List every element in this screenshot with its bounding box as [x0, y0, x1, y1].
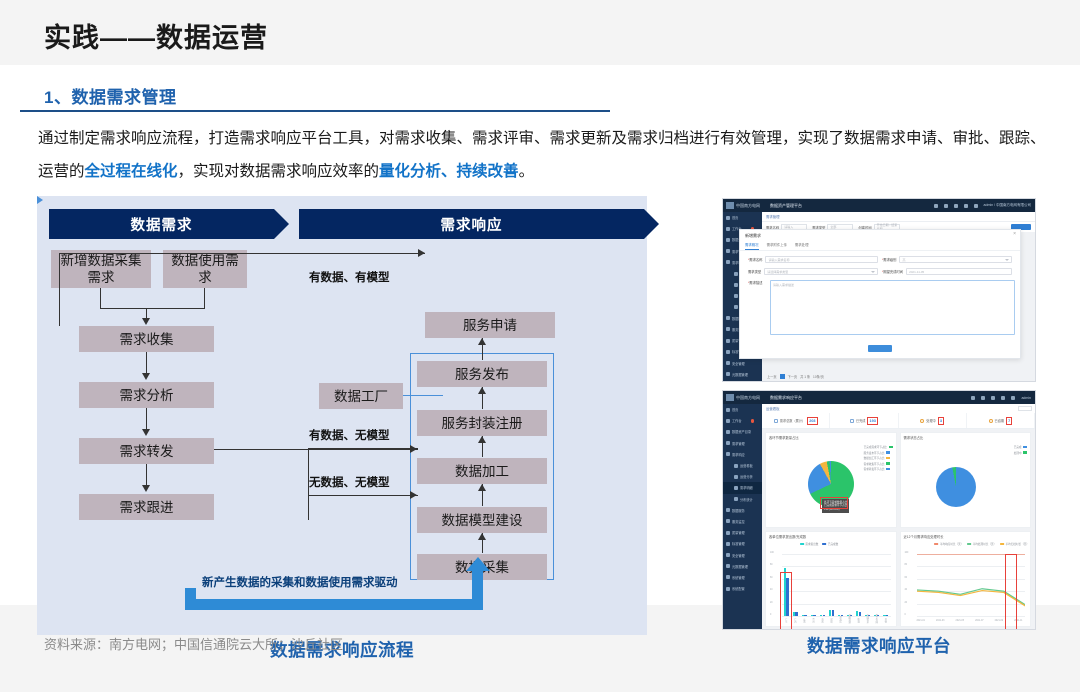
sidebar-item-label: 工作台	[732, 418, 742, 423]
sidebar-item-label: 首页	[732, 215, 738, 220]
gridline	[782, 566, 891, 567]
connector	[308, 449, 418, 450]
sidebar-item-label: 系统配置	[732, 586, 745, 591]
connector	[308, 495, 418, 496]
stat-card-1: 已完成193	[830, 413, 898, 428]
brand-name: 中国南方电网	[736, 395, 760, 401]
card-title: 各环节需求数量占比	[766, 433, 896, 440]
search-icon[interactable]	[1001, 396, 1005, 400]
paragraph-highlight-1: 全过程在线化	[85, 163, 178, 180]
legend-item: 需求提出数	[800, 542, 818, 546]
menu-icon	[734, 497, 738, 501]
x-tick-label: 数字电网	[874, 614, 878, 623]
app-header: 中国南方电网 数据资产管理平台 admin / 中国南方电网有限公司	[723, 199, 1035, 212]
sidebar-item-7[interactable]: 需求明细	[723, 482, 762, 493]
node-data-modeling: 数据模型建设	[417, 507, 547, 533]
card-title: 近12个月需求响应处理时长	[901, 532, 1031, 539]
legend-swatch	[889, 446, 893, 449]
legend-label: 需求提出数	[805, 542, 818, 546]
gridline	[782, 591, 891, 592]
x-tick-label: 2021-09	[995, 620, 1003, 622]
menu-icon	[726, 316, 730, 320]
legend: 已完成处理中	[1014, 445, 1027, 455]
modal-tab-1[interactable]: 需求附件上传	[767, 242, 787, 250]
stat-value: 193	[867, 417, 877, 425]
header-icons: admin	[971, 396, 1031, 400]
menu-icon	[734, 305, 738, 309]
section-divider	[20, 110, 610, 112]
field-0[interactable]: *需求名称请输入需求名称	[748, 256, 878, 263]
x-tick-label: 2021-01	[917, 620, 925, 622]
menu-icon	[726, 542, 730, 546]
sidebar-item-label: 首页	[732, 407, 738, 412]
message-icon[interactable]	[981, 396, 985, 400]
sidebar-item-14[interactable]: 元数据管理	[723, 369, 762, 380]
legend-swatch	[886, 462, 890, 465]
modal-title: 新增需求	[740, 230, 1020, 239]
legend-label: 平均响应时长（天）	[940, 542, 963, 546]
total-count: 共 1 条	[800, 374, 810, 379]
x-tick-label: 贵州	[810, 618, 814, 623]
user-label[interactable]: admin / 中国南方电网有限公司	[984, 203, 1031, 208]
menu-icon	[726, 441, 730, 445]
legend-swatch	[822, 543, 826, 546]
node-service-publish: 服务发布	[417, 361, 547, 387]
stat-icon	[920, 419, 924, 423]
menu-icon	[726, 564, 730, 568]
x-tick-label: 能源	[856, 618, 860, 623]
node-data-factory: 数据工厂	[319, 383, 403, 409]
next-page[interactable]: 下一页	[788, 374, 798, 379]
modal-tab-2[interactable]: 需求处理	[795, 242, 809, 250]
arrow-head	[478, 533, 486, 540]
legend-swatch	[1023, 451, 1027, 454]
y-tick-label: 100	[770, 552, 774, 554]
legend-label: 已完成	[1014, 445, 1022, 449]
sidebar-item-label: 元数据管理	[732, 372, 748, 377]
stat-value: 3	[938, 417, 944, 425]
field-input[interactable]: 2021-11-05	[906, 268, 1012, 275]
sidebar-item-label: 需求响应	[732, 452, 745, 457]
chart-card-1: 需求状态占比已完成处理中	[900, 432, 1032, 528]
field-label: 需求类型	[748, 269, 761, 274]
brand-name: 中国南方电网	[736, 203, 760, 209]
sidebar-item-16[interactable]: 系统配置	[723, 583, 762, 594]
banner-data-demand: 数据需求	[49, 209, 274, 239]
arrow-head	[466, 557, 490, 571]
menu-icon	[734, 475, 738, 479]
x-tick-label: 广西	[792, 618, 796, 623]
user-label[interactable]: admin	[1021, 396, 1031, 400]
y-tick-label: 80	[905, 564, 908, 566]
sidebar-item-label: 系统管理	[732, 575, 745, 580]
bar	[813, 615, 815, 616]
condition-label-1: 有数据、有模型	[309, 269, 390, 285]
chart-card-3: 近12个月需求响应处理时长平均响应时长（天）平均处理时长（天）平均归档时长（天）…	[900, 531, 1032, 627]
sidebar-item-11[interactable]: 质量管理	[723, 527, 762, 538]
arrow-head	[142, 429, 150, 436]
logo-icon	[726, 394, 734, 401]
search-icon[interactable]	[964, 204, 968, 208]
badge-dot	[751, 419, 755, 423]
y-tick-label: 40	[905, 589, 908, 591]
legend-label: 数据加工环节占比	[864, 456, 885, 460]
form-row-1: *需求名称请输入需求名称*需求级别高	[740, 251, 1020, 263]
sidebar-item-0[interactable]: 首页	[723, 404, 762, 415]
x-tick-label: 超高压	[838, 616, 842, 623]
menu-icon	[726, 227, 730, 231]
legend-item: 已完成数	[822, 542, 838, 546]
gear-icon[interactable]	[991, 396, 995, 400]
field-2[interactable]: 需求类型请选择需求类型	[748, 268, 878, 275]
sidebar-item-12[interactable]: 标准管理	[723, 538, 762, 549]
bar	[823, 615, 825, 616]
platform-screenshot-demand-form[interactable]: 中国南方电网 数据资产管理平台 admin / 中国南方电网有限公司 首页工作台…	[722, 198, 1036, 382]
stat-value: 7	[1006, 417, 1012, 425]
legend-item: 需求转发环节占比	[864, 467, 893, 471]
field-input[interactable]: 高	[899, 256, 1012, 263]
node-demand-forward: 需求转发	[79, 438, 214, 464]
demand-description-textarea[interactable]: 请输入需求描述	[770, 280, 1015, 335]
y-tick-label: 0	[905, 614, 906, 616]
sidebar-item-15[interactable]: 系统管理	[723, 572, 762, 583]
menu-icon	[734, 283, 738, 287]
connector	[59, 325, 60, 326]
menu-icon	[726, 575, 730, 579]
x-tick-label: 2021-05	[956, 620, 964, 622]
sidebar-item-10[interactable]: 服务监控	[723, 516, 762, 527]
node-demand-collection: 需求收集	[79, 326, 214, 352]
slide-root: 实践——数据运营 1、数据需求管理 通过制定需求响应流程，打造需求响应平台工具，…	[0, 0, 1080, 692]
chevron-down-icon	[1005, 259, 1009, 261]
x-tick-label: 海南	[820, 618, 824, 623]
paragraph-text-3: 。	[519, 163, 535, 180]
export-button[interactable]	[1018, 406, 1032, 412]
sidebar-item-label: 数据服务	[732, 508, 745, 513]
stat-card-3: 已逾期7	[967, 413, 1035, 428]
menu-icon	[726, 531, 730, 535]
sidebar-item-6[interactable]: 运营分析	[723, 471, 762, 482]
menu-icon	[726, 216, 730, 220]
pie-chart	[936, 467, 976, 507]
chart-card-0: 各环节需求数量占比已完成需求环节占比服务发布环节占比数据加工环节占比需求收集环节…	[765, 432, 897, 528]
connector	[204, 288, 205, 308]
node-demand-analysis: 需求分析	[79, 382, 214, 408]
highlight-marker	[1005, 554, 1017, 630]
stat-card-0: 需求总数（累计）203	[762, 413, 830, 428]
menu-icon	[726, 249, 730, 253]
y-tick-label: 80	[770, 564, 773, 566]
breadcrumb-label: 运营看板	[766, 406, 780, 411]
stat-label: 已逾期	[995, 418, 1005, 423]
sidebar-item-label: 标准管理	[732, 541, 745, 546]
connector	[59, 253, 425, 254]
legend-swatch	[886, 457, 890, 460]
x-tick-label: 2021-03	[936, 620, 944, 622]
field-input[interactable]: 请选择需求类型	[764, 268, 878, 275]
sidebar-item-9[interactable]: 数据服务	[723, 505, 762, 516]
sidebar-item-4[interactable]: 需求响应	[723, 449, 762, 460]
doc-icon[interactable]	[974, 204, 978, 208]
sidebar-item-1[interactable]: 工作台	[723, 415, 762, 426]
highlight-marker	[820, 497, 848, 509]
demand-description-label: *需求描述	[748, 280, 762, 285]
flow-diagram: 数据需求 需求响应 新增数据采集需求 数据使用需求 需求收集 需求分析 需求转发…	[37, 196, 647, 635]
connector	[100, 308, 205, 309]
gridline	[782, 554, 891, 555]
x-tick-label: 电网技术	[865, 614, 869, 623]
breadcrumb: 需求管理	[762, 212, 1035, 221]
platform-caption: 数据需求响应平台	[722, 633, 1036, 658]
arrow-head	[418, 249, 425, 257]
card-title: 各单位需求提出数/完成数	[766, 532, 896, 539]
condition-label-2: 有数据、无模型	[309, 427, 390, 443]
field-input[interactable]: 请输入需求名称	[765, 256, 878, 263]
menu-icon	[726, 508, 730, 512]
x-tick-label: 云南	[801, 618, 805, 623]
sidebar-item-label: 服务监控	[732, 519, 745, 524]
feedback-label: 新产生数据的采集和数据使用需求驱动	[202, 574, 398, 590]
arrow-head	[478, 436, 486, 443]
node-data-processing: 数据加工	[417, 458, 547, 484]
arrow-head	[142, 318, 150, 325]
y-tick-label: 0	[770, 614, 771, 616]
sidebar: 首页工作台数据资产目录需求管理需求响应运营看板运营分析需求明细分布统计数据服务服…	[723, 404, 762, 629]
connector	[214, 449, 309, 450]
header-icons: admin / 中国南方电网有限公司	[934, 203, 1031, 208]
legend-label: 平均归档时长（天）	[1006, 542, 1029, 546]
doc-icon[interactable]	[1011, 396, 1015, 400]
body-paragraph: 通过制定需求响应流程，打造需求响应平台工具，对需求收集、需求评审、需求更新及需求…	[38, 122, 1046, 188]
legend-item: 数据加工环节占比	[864, 456, 893, 460]
menu-icon	[726, 553, 730, 557]
stat-icon	[774, 419, 778, 423]
pagination[interactable]: 上一页 下一页 共 1 条 10条/页	[767, 374, 824, 379]
sidebar-item-label: 安全管理	[732, 553, 745, 558]
modal-tab-0[interactable]: 需求概况	[745, 242, 759, 250]
stat-icon	[989, 419, 993, 423]
sidebar-item-14[interactable]: 元数据管理	[723, 561, 762, 572]
bell-icon[interactable]	[934, 204, 938, 208]
paragraph-text-2: ，实现对数据需求响应效率的	[178, 163, 380, 180]
section-heading: 1、数据需求管理	[44, 83, 176, 108]
plot-area: 1008060402002021-012021-032021-052021-07…	[917, 554, 1026, 616]
sidebar-item-label: 运营分析	[740, 474, 753, 479]
highlight-marker	[780, 572, 792, 630]
app-title: 数据需求响应平台	[770, 395, 802, 401]
arrow-head	[142, 373, 150, 380]
main-content: 运营看板 需求总数（累计）203已完成193处理中3已逾期7 各环节需求数量占比…	[762, 404, 1035, 629]
sidebar-item-5[interactable]: 运营看板	[723, 460, 762, 471]
legend-item: 已完成需求环节占比	[864, 445, 893, 449]
chart-cards: 各环节需求数量占比已完成需求环节占比服务发布环节占比数据加工环节占比需求收集环节…	[762, 429, 1035, 630]
connector	[403, 395, 443, 396]
breadcrumb-label: 需求管理	[766, 214, 780, 219]
sidebar-item-13[interactable]: 安全管理	[723, 549, 762, 560]
platform-screenshot-dashboard[interactable]: 中国南方电网 数据需求响应平台 admin 首页工作台数据资产目录需求管理需求响…	[722, 390, 1036, 630]
legend-label: 平均处理时长（天）	[973, 542, 996, 546]
menu-icon	[726, 452, 730, 456]
arrow-head	[410, 491, 417, 499]
page-size-select[interactable]: 10条/页	[813, 374, 824, 379]
arrow-head	[478, 387, 486, 394]
sidebar-item-label: 运营看板	[740, 463, 753, 468]
app-title: 数据资产管理平台	[770, 203, 802, 209]
legend-label: 已完成需求环节占比	[864, 445, 887, 449]
gridline	[782, 579, 891, 580]
menu-icon	[734, 464, 738, 468]
menu-icon	[726, 327, 730, 331]
chevron-down-icon	[871, 271, 875, 273]
sidebar-item-label: 安全管理	[732, 361, 745, 366]
x-tick-label: 2021-07	[975, 620, 983, 622]
stat-icon	[850, 419, 854, 423]
content-sheet: 1、数据需求管理 通过制定需求响应流程，打造需求响应平台工具，对需求收集、需求评…	[0, 65, 1080, 605]
legend-item: 处理中	[1014, 451, 1027, 455]
y-tick-label: 20	[905, 602, 908, 604]
bar	[795, 612, 797, 616]
node-service-apply: 服务申请	[425, 312, 555, 338]
stat-cards: 需求总数（累计）203已完成193处理中3已逾期7	[762, 413, 1035, 429]
x-tick-label: 其他	[883, 618, 887, 623]
menu-icon	[726, 519, 730, 523]
stat-value: 203	[807, 417, 817, 425]
bar	[804, 615, 806, 616]
menu-icon	[726, 372, 730, 376]
bell-icon[interactable]	[971, 396, 975, 400]
sidebar-item-15[interactable]: 系统管理	[723, 380, 762, 382]
arrow-head	[142, 485, 150, 492]
arrow-head	[478, 484, 486, 491]
x-tick-label: 调峰调频	[847, 614, 851, 623]
sidebar-item-label: 需求明细	[740, 485, 753, 490]
menu-icon	[726, 408, 730, 412]
stat-label: 需求总数（累计）	[780, 418, 806, 423]
legend-swatch	[1023, 446, 1027, 449]
message-icon[interactable]	[944, 204, 948, 208]
sidebar-item-8[interactable]: 分布统计	[723, 494, 762, 505]
legend-swatch	[934, 543, 938, 546]
sidebar-item-2[interactable]: 数据资产目录	[723, 426, 762, 437]
legend: 平均响应时长（天）平均处理时长（天）平均归档时长（天）	[934, 542, 996, 546]
legend-item: 平均处理时长（天）	[967, 542, 996, 546]
legend-label: 服务发布环节占比	[864, 451, 885, 455]
chart-card-2: 各单位需求提出数/完成数需求提出数已完成数100806040200广东广西云南贵…	[765, 531, 897, 627]
legend-item: 平均响应时长（天）	[934, 542, 963, 546]
menu-icon	[734, 272, 738, 276]
field-label: *需求名称	[748, 257, 762, 262]
node-new-collection-demand: 新增数据采集需求	[51, 250, 151, 288]
gridline	[782, 604, 891, 605]
connector	[146, 464, 147, 485]
bar	[859, 612, 861, 616]
menu-icon	[726, 361, 730, 365]
sidebar-item-label: 元数据管理	[732, 564, 748, 569]
logo-icon	[726, 202, 734, 209]
arrow-head	[478, 338, 486, 345]
field-label: *需求级别	[882, 257, 896, 262]
modal-tabs: 需求概况需求附件上传需求处理	[740, 239, 1020, 251]
y-tick-label: 60	[905, 577, 908, 579]
submit-button[interactable]	[868, 345, 892, 352]
prev-page[interactable]: 上一页	[767, 374, 777, 379]
field-1[interactable]: *需求级别高	[882, 256, 1012, 263]
new-demand-modal[interactable]: 新增需求 × 需求概况需求附件上传需求处理 *需求名称请输入需求名称*需求级别高…	[739, 229, 1021, 359]
legend-swatch	[886, 451, 890, 454]
menu-icon	[726, 350, 730, 354]
sidebar-item-label: 质量管理	[732, 530, 745, 535]
legend-label: 已完成数	[828, 542, 838, 546]
connector	[100, 288, 101, 308]
page-number-active[interactable]	[780, 374, 785, 379]
menu-icon	[726, 430, 730, 434]
sidebar-item-0[interactable]: 首页	[723, 212, 762, 223]
legend-label: 处理中	[1014, 451, 1022, 455]
y-tick-label: 100	[905, 552, 909, 554]
bar	[832, 610, 834, 616]
menu-icon	[726, 587, 730, 591]
arrow-head	[410, 445, 417, 453]
source-footer: 资料来源：南方电网；中国信通院云大所；沙丘社区	[44, 634, 343, 653]
legend-item: 平均归档时长（天）	[1000, 542, 1029, 546]
arrow-head	[37, 196, 647, 204]
legend-item: 已完成	[1014, 445, 1027, 449]
legend-label: 需求转发环节占比	[864, 467, 885, 471]
y-tick-label: 40	[770, 589, 773, 591]
y-tick-label: 20	[770, 602, 773, 604]
sidebar-item-13[interactable]: 安全管理	[723, 357, 762, 368]
paragraph-highlight-2: 量化分析、持续改善	[379, 163, 519, 180]
plot-area: 100806040200广东广西云南贵州海南深圳超高压调峰调频能源电网技术数字电…	[782, 554, 891, 616]
legend-label: 需求收集环节占比	[864, 462, 885, 466]
menu-icon	[726, 339, 730, 343]
legend-swatch	[1000, 543, 1004, 546]
gear-icon[interactable]	[954, 204, 958, 208]
sidebar-item-label: 数据资产目录	[732, 429, 751, 434]
field-3[interactable]: *期望完成时间2021-11-05	[882, 268, 1012, 275]
stat-label: 处理中	[926, 418, 936, 423]
node-service-register: 服务封装注册	[417, 410, 547, 436]
card-title: 需求状态占比	[901, 433, 1031, 440]
app-header: 中国南方电网 数据需求响应平台 admin	[723, 391, 1035, 404]
x-tick-label: 深圳	[829, 618, 833, 623]
sidebar-item-label: 需求管理	[732, 441, 745, 446]
menu-icon	[726, 238, 730, 242]
breadcrumb: 运营看板	[762, 404, 1035, 413]
sidebar-item-3[interactable]: 需求管理	[723, 438, 762, 449]
node-data-usage-demand: 数据使用需求	[163, 250, 247, 288]
menu-icon	[734, 294, 738, 298]
connector	[146, 408, 147, 429]
condition-label-3: 无数据、无模型	[309, 474, 390, 490]
legend: 需求提出数已完成数	[800, 542, 862, 546]
legend-item: 服务发布环节占比	[864, 451, 893, 455]
close-icon[interactable]: ×	[1013, 232, 1016, 237]
node-demand-followup: 需求跟进	[79, 494, 214, 520]
bar	[886, 615, 888, 616]
menu-icon	[734, 486, 738, 490]
page-title: 实践——数据运营	[44, 16, 268, 55]
connector	[146, 352, 147, 373]
legend: 已完成需求环节占比服务发布环节占比数据加工环节占比需求收集环节占比需求转发环节占…	[864, 445, 893, 471]
legend-swatch	[886, 468, 890, 471]
banner-demand-response: 需求响应	[299, 209, 644, 239]
legend-item: 需求收集环节占比	[864, 462, 893, 466]
menu-icon	[726, 419, 730, 423]
menu-icon	[726, 260, 730, 264]
y-tick-label: 60	[770, 577, 773, 579]
stat-card-2: 处理中3	[899, 413, 967, 428]
